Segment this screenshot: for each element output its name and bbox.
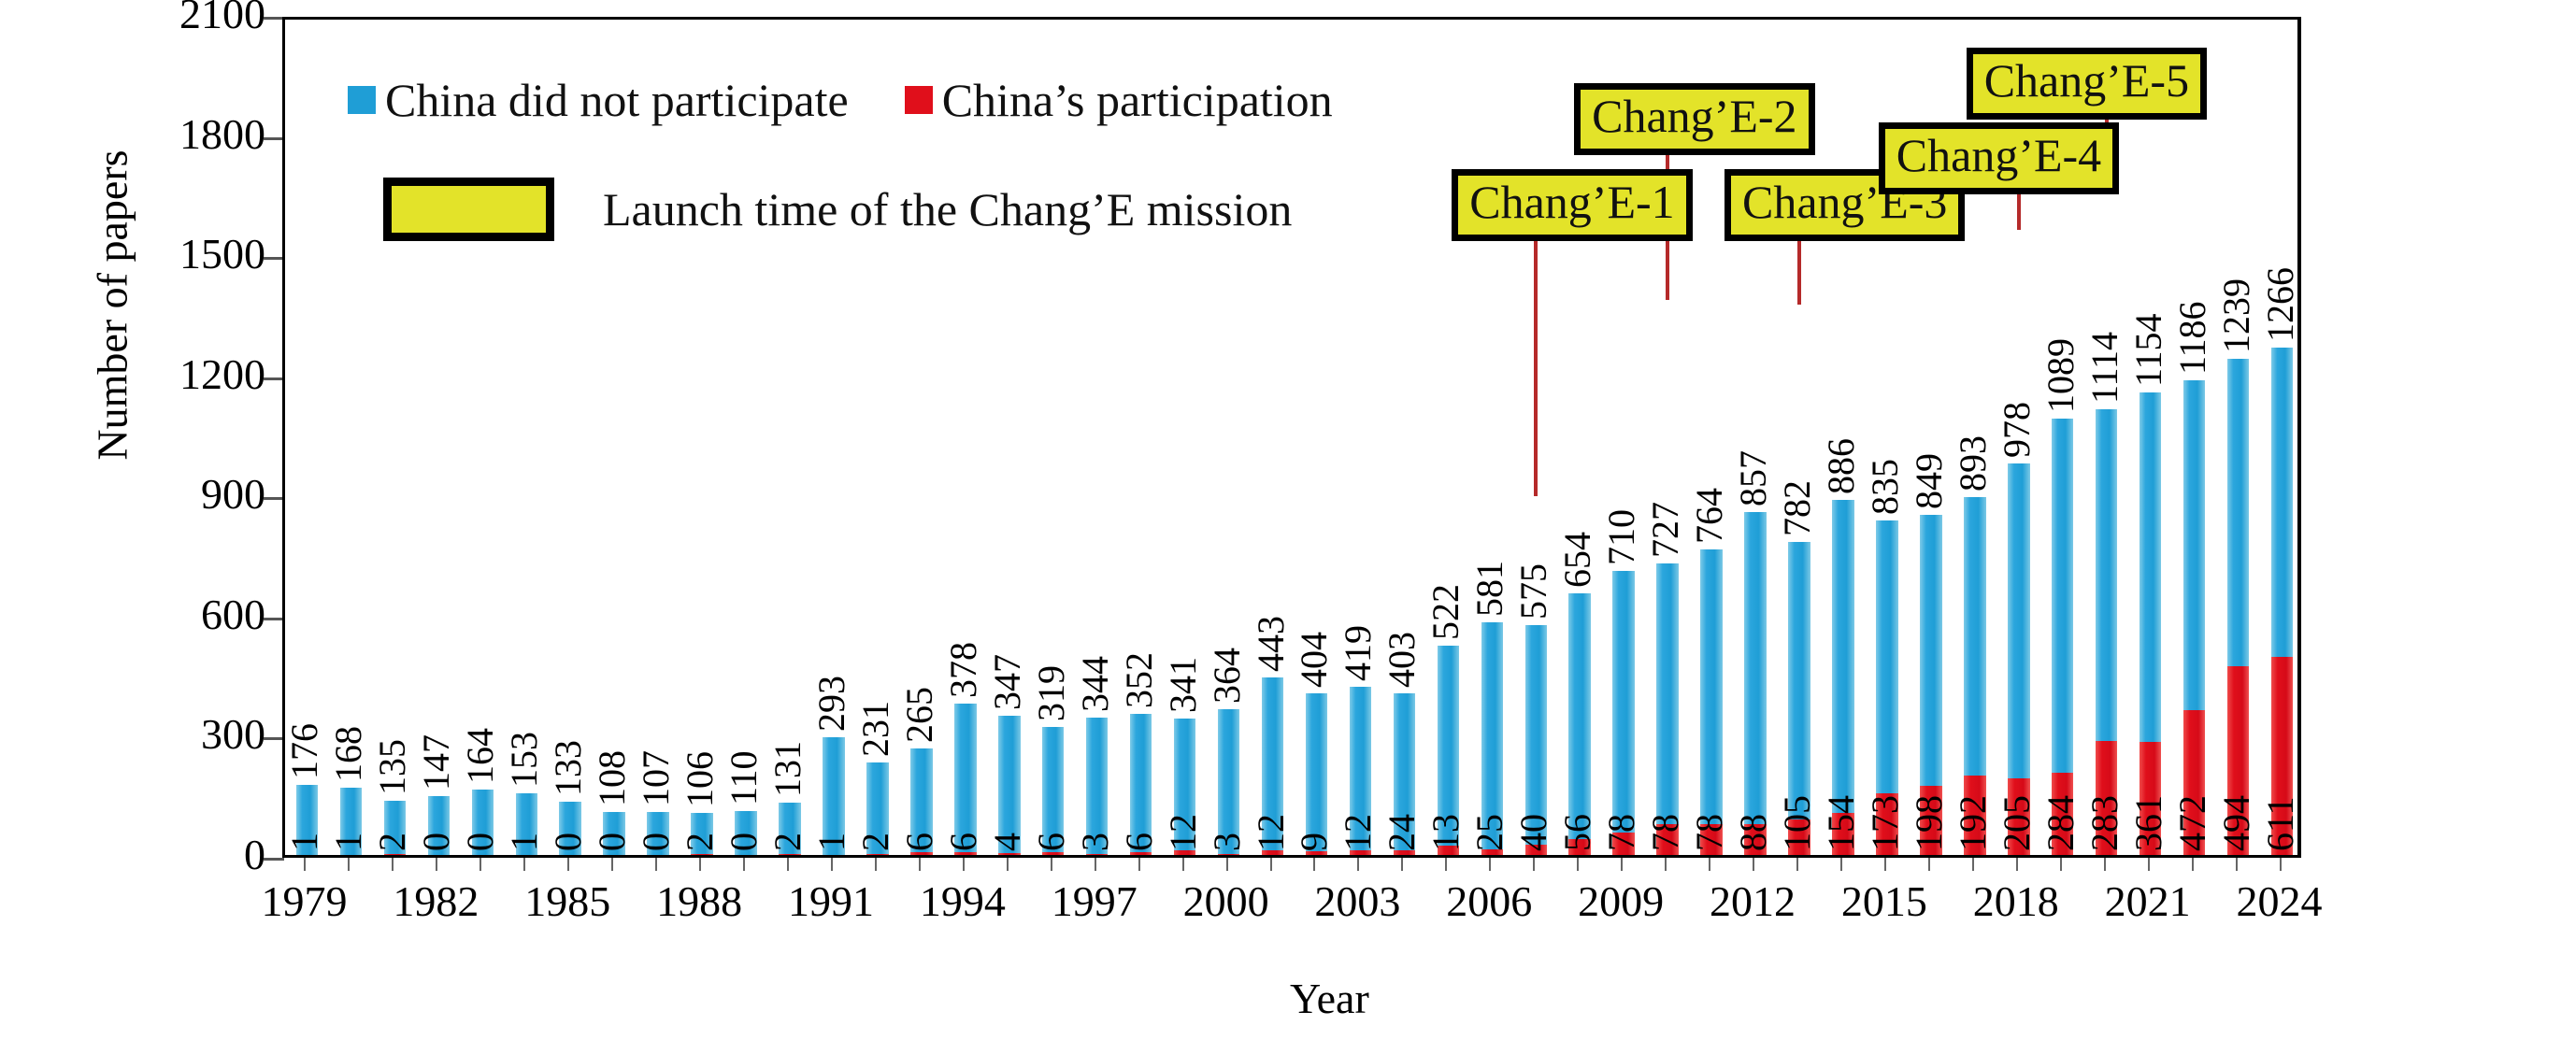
legend-mission: Launch time of the Chang’E mission bbox=[383, 178, 1292, 241]
bar-total-label: 1239 bbox=[2218, 278, 2255, 353]
bar-segment-blue bbox=[1656, 563, 1678, 823]
bar-total-label: 231 bbox=[857, 701, 894, 757]
x-tick-mark bbox=[1665, 858, 1667, 871]
y-tick-mark bbox=[264, 17, 284, 20]
x-tick-mark bbox=[2192, 858, 2194, 871]
y-tick-label: 300 bbox=[50, 709, 265, 759]
bar-red-label: 12 bbox=[1165, 814, 1202, 851]
bar-2012[interactable] bbox=[1744, 512, 1766, 855]
bar-segment-blue bbox=[2271, 348, 2293, 657]
annotation-box-2007[interactable]: Chang’E-1 bbox=[1452, 169, 1692, 241]
bar-red-label: 284 bbox=[2042, 795, 2080, 851]
bar-segment-blue bbox=[1876, 520, 1897, 793]
y-tick-label: 1200 bbox=[50, 349, 265, 399]
bar-red-label: 78 bbox=[1647, 814, 1684, 851]
annotation-box-2020[interactable]: Chang’E-5 bbox=[1967, 48, 2207, 120]
bar-segment-red bbox=[1218, 854, 1239, 855]
bar-red-label: 2 bbox=[374, 833, 411, 851]
bar-red-label: 1 bbox=[286, 833, 323, 851]
y-tick-label: 0 bbox=[50, 830, 265, 879]
bar-total-label: 575 bbox=[1515, 563, 1553, 620]
bar-total-label: 1089 bbox=[2042, 338, 2080, 413]
bar-segment-blue bbox=[1832, 500, 1853, 813]
bar-red-label: 0 bbox=[550, 833, 587, 851]
x-tick-label: 2003 bbox=[1314, 876, 1400, 926]
x-tick-mark bbox=[1489, 858, 1491, 871]
x-tick-mark bbox=[655, 858, 657, 871]
bar-red-label: 0 bbox=[725, 833, 763, 851]
bar-total-label: 404 bbox=[1295, 632, 1333, 688]
bar-total-label: 347 bbox=[989, 654, 1026, 710]
y-tick-label: 1800 bbox=[50, 109, 265, 159]
y-tick-mark bbox=[264, 137, 284, 140]
x-tick-mark bbox=[1270, 858, 1272, 871]
bar-red-label: 9 bbox=[1295, 833, 1333, 851]
y-axis-title: Number of papers bbox=[88, 109, 137, 502]
bar-total-label: 265 bbox=[901, 687, 938, 743]
x-tick-mark bbox=[1313, 858, 1315, 871]
bar-total-label: 654 bbox=[1559, 532, 1596, 588]
bar-red-label: 2 bbox=[769, 833, 807, 851]
bar-red-label: 205 bbox=[1998, 795, 2036, 851]
bar-red-label: 3 bbox=[1209, 833, 1246, 851]
bar-segment-red bbox=[954, 852, 976, 855]
bar-total-label: 782 bbox=[1779, 480, 1816, 536]
bar-red-label: 78 bbox=[1691, 814, 1728, 851]
bar-red-label: 611 bbox=[2262, 796, 2299, 851]
bar-total-label: 135 bbox=[374, 739, 411, 795]
bar-red-label: 6 bbox=[901, 833, 938, 851]
bar-red-label: 283 bbox=[2086, 795, 2124, 851]
x-tick-mark bbox=[1445, 858, 1447, 871]
bar-red-label: 4 bbox=[989, 833, 1026, 851]
x-tick-label: 2009 bbox=[1578, 876, 1664, 926]
bar-red-label: 78 bbox=[1603, 814, 1640, 851]
x-tick-label: 2000 bbox=[1183, 876, 1269, 926]
bar-total-label: 131 bbox=[769, 741, 807, 797]
legend-blue-swatch bbox=[348, 86, 376, 114]
x-tick-mark bbox=[1182, 858, 1184, 871]
y-tick-mark bbox=[264, 858, 284, 861]
bar-total-label: 352 bbox=[1121, 652, 1158, 708]
bar-red-label: 1 bbox=[330, 833, 367, 851]
bar-segment-red bbox=[1130, 852, 1152, 855]
x-tick-mark bbox=[479, 858, 481, 871]
bar-red-label: 198 bbox=[1911, 795, 1948, 851]
bar-segment-blue bbox=[2227, 359, 2249, 666]
bar-2019[interactable] bbox=[2052, 419, 2073, 855]
x-tick-mark bbox=[875, 858, 877, 871]
x-tick-label: 1985 bbox=[524, 876, 610, 926]
bar-2021[interactable] bbox=[2140, 392, 2161, 855]
chart-figure: Number of papers 03006009001200150018002… bbox=[0, 0, 2576, 1054]
annotation-line-2007 bbox=[1534, 238, 1538, 496]
bar-total-label: 106 bbox=[681, 751, 719, 807]
bar-total-label: 108 bbox=[594, 750, 631, 806]
bar-segment-red bbox=[910, 852, 932, 855]
bar-total-label: 344 bbox=[1077, 656, 1114, 712]
x-tick-mark bbox=[2104, 858, 2106, 871]
y-tick-label: 900 bbox=[50, 469, 265, 519]
bar-total-label: 403 bbox=[1383, 632, 1421, 688]
legend-red-swatch bbox=[905, 86, 933, 114]
bar-segment-blue bbox=[1700, 549, 1722, 824]
bar-total-label: 164 bbox=[462, 728, 499, 784]
x-tick-mark bbox=[831, 858, 833, 871]
y-tick-mark bbox=[264, 497, 284, 500]
bar-segment-blue bbox=[2140, 392, 2161, 741]
bar-total-label: 364 bbox=[1209, 648, 1246, 704]
bar-segment-blue bbox=[1568, 593, 1590, 839]
bar-red-label: 2 bbox=[681, 833, 719, 851]
x-tick-label: 2018 bbox=[1973, 876, 2059, 926]
x-tick-label: 1991 bbox=[788, 876, 874, 926]
y-tick-mark bbox=[264, 737, 284, 740]
y-tick-label: 2100 bbox=[50, 0, 265, 38]
bar-total-label: 893 bbox=[1954, 435, 1992, 491]
bar-red-label: 1 bbox=[813, 833, 851, 851]
x-tick-mark bbox=[304, 858, 306, 871]
x-tick-label: 1997 bbox=[1052, 876, 1138, 926]
bar-segment-blue bbox=[2183, 380, 2205, 711]
legend-mission-label: Launch time of the Chang’E mission bbox=[603, 182, 1292, 236]
bar-total-label: 443 bbox=[1252, 616, 1290, 672]
bar-red-label: 0 bbox=[637, 833, 675, 851]
x-tick-mark bbox=[1577, 858, 1579, 871]
bar-segment-red bbox=[866, 854, 888, 855]
bar-red-label: 361 bbox=[2130, 795, 2168, 851]
y-tick-mark bbox=[264, 257, 284, 260]
bar-red-label: 173 bbox=[1867, 795, 1904, 851]
x-tick-mark bbox=[1840, 858, 1842, 871]
x-tick-mark bbox=[348, 858, 350, 871]
legend-red-label: China’s participation bbox=[942, 73, 1333, 127]
bar-total-label: 419 bbox=[1339, 625, 1377, 681]
x-tick-label: 1979 bbox=[261, 876, 347, 926]
bar-total-label: 581 bbox=[1471, 561, 1509, 617]
x-tick-mark bbox=[787, 858, 789, 871]
bar-total-label: 886 bbox=[1823, 438, 1860, 494]
x-tick-mark bbox=[567, 858, 569, 871]
annotation-box-2018[interactable]: Chang’E-4 bbox=[1879, 122, 2119, 194]
bar-segment-blue bbox=[1744, 512, 1766, 824]
bar-red-label: 192 bbox=[1954, 795, 1992, 851]
x-tick-label: 2024 bbox=[2237, 876, 2323, 926]
bar-segment-red bbox=[998, 853, 1020, 855]
bar-red-label: 154 bbox=[1823, 795, 1860, 851]
bar-segment-red bbox=[779, 854, 800, 855]
bar-2010[interactable] bbox=[1656, 563, 1678, 855]
bar-segment-blue bbox=[1920, 515, 1941, 786]
bar-red-label: 56 bbox=[1559, 814, 1596, 851]
bar-red-label: 12 bbox=[1252, 814, 1290, 851]
bar-total-label: 176 bbox=[286, 723, 323, 779]
x-tick-mark bbox=[1533, 858, 1535, 871]
x-tick-mark bbox=[1709, 858, 1710, 871]
x-tick-label: 1982 bbox=[393, 876, 479, 926]
bar-2009[interactable] bbox=[1612, 571, 1634, 855]
bar-total-label: 133 bbox=[550, 740, 587, 796]
bar-total-label: 522 bbox=[1427, 584, 1465, 640]
bar-red-label: 1 bbox=[506, 833, 543, 851]
legend-blue-label: China did not participate bbox=[385, 73, 849, 127]
x-tick-mark bbox=[2148, 858, 2150, 871]
bar-segment-blue bbox=[2008, 463, 2029, 778]
bar-2020[interactable] bbox=[2096, 409, 2117, 855]
plot-area: 1761168113521470164015311330108010701062… bbox=[282, 17, 2301, 858]
bar-total-label: 107 bbox=[637, 750, 675, 806]
x-tick-mark bbox=[2060, 858, 2062, 871]
x-tick-mark bbox=[1972, 858, 1974, 871]
bar-segment-red bbox=[1306, 851, 1327, 855]
bar-total-label: 378 bbox=[945, 642, 982, 698]
x-tick-label: 2021 bbox=[2105, 876, 2191, 926]
bar-red-label: 3 bbox=[1077, 833, 1114, 851]
legend-yellow-swatch bbox=[383, 178, 554, 241]
x-tick-mark bbox=[699, 858, 701, 871]
bar-2011[interactable] bbox=[1700, 549, 1722, 855]
bar-2002[interactable] bbox=[1306, 693, 1327, 855]
bar-segment-red bbox=[1086, 854, 1108, 855]
bar-red-label: 24 bbox=[1383, 814, 1421, 851]
x-tick-mark bbox=[743, 858, 745, 871]
x-tick-mark bbox=[1928, 858, 1930, 871]
bar-segment-blue bbox=[2096, 409, 2117, 742]
bar-total-label: 319 bbox=[1033, 665, 1070, 721]
x-tick-mark bbox=[963, 858, 965, 871]
bar-total-label: 1114 bbox=[2086, 332, 2124, 404]
bar-segment-blue bbox=[1788, 542, 1810, 819]
x-tick-mark bbox=[611, 858, 613, 871]
bar-2022[interactable] bbox=[2183, 380, 2205, 855]
bar-red-label: 0 bbox=[462, 833, 499, 851]
bar-total-label: 849 bbox=[1911, 453, 1948, 509]
bar-2024[interactable] bbox=[2271, 348, 2293, 855]
bar-segment-blue bbox=[1306, 693, 1327, 851]
x-tick-mark bbox=[2280, 858, 2282, 871]
x-tick-mark bbox=[1007, 858, 1009, 871]
bar-red-label: 40 bbox=[1515, 814, 1553, 851]
bar-total-label: 168 bbox=[330, 726, 367, 782]
bar-red-label: 6 bbox=[1121, 833, 1158, 851]
y-tick-label: 600 bbox=[50, 590, 265, 639]
x-tick-mark bbox=[1753, 858, 1754, 871]
bar-segment-blue bbox=[1964, 497, 1985, 776]
bar-total-label: 764 bbox=[1691, 488, 1728, 544]
bar-red-label: 12 bbox=[1339, 814, 1377, 851]
x-tick-mark bbox=[1095, 858, 1096, 871]
y-tick-mark bbox=[264, 618, 284, 620]
bar-red-label: 13 bbox=[1427, 814, 1465, 851]
bar-2023[interactable] bbox=[2227, 359, 2249, 855]
bar-segment-blue bbox=[2052, 419, 2073, 773]
bar-total-label: 147 bbox=[418, 734, 455, 790]
x-tick-mark bbox=[1226, 858, 1228, 871]
bar-total-label: 978 bbox=[1998, 402, 2036, 458]
bar-total-label: 110 bbox=[725, 750, 763, 805]
x-tick-mark bbox=[523, 858, 525, 871]
bar-total-label: 710 bbox=[1603, 509, 1640, 565]
x-tick-mark bbox=[436, 858, 437, 871]
x-tick-mark bbox=[1357, 858, 1359, 871]
x-tick-label: 1988 bbox=[656, 876, 742, 926]
bar-red-label: 494 bbox=[2218, 795, 2255, 851]
bar-segment-blue bbox=[1612, 571, 1634, 833]
x-tick-mark bbox=[1401, 858, 1403, 871]
annotation-line-2018 bbox=[2017, 192, 2021, 230]
x-axis-title: Year bbox=[1290, 974, 1369, 1023]
y-tick-mark bbox=[264, 377, 284, 380]
bar-total-label: 727 bbox=[1647, 502, 1684, 558]
annotation-box-2010[interactable]: Chang’E-2 bbox=[1574, 83, 1814, 155]
bar-total-label: 1154 bbox=[2130, 314, 2168, 388]
bar-segment-blue bbox=[1525, 625, 1547, 846]
bar-red-label: 2 bbox=[857, 833, 894, 851]
x-tick-mark bbox=[2236, 858, 2238, 871]
x-tick-mark bbox=[392, 858, 394, 871]
bar-total-label: 857 bbox=[1735, 450, 1772, 506]
x-tick-mark bbox=[1884, 858, 1886, 871]
bar-segment-blue bbox=[954, 704, 976, 852]
bar-segment-red bbox=[691, 854, 712, 855]
bar-red-label: 0 bbox=[594, 833, 631, 851]
x-tick-mark bbox=[1621, 858, 1623, 871]
bar-red-label: 25 bbox=[1471, 814, 1509, 851]
annotation-line-2013 bbox=[1797, 238, 1801, 305]
x-tick-mark bbox=[1796, 858, 1798, 871]
bar-red-label: 105 bbox=[1779, 795, 1816, 851]
bar-red-label: 6 bbox=[1033, 833, 1070, 851]
x-tick-label: 1994 bbox=[920, 876, 1006, 926]
bar-red-label: 88 bbox=[1735, 814, 1772, 851]
bar-red-label: 6 bbox=[945, 833, 982, 851]
x-tick-mark bbox=[1138, 858, 1140, 871]
bar-total-label: 1266 bbox=[2262, 267, 2299, 342]
bar-red-label: 472 bbox=[2174, 795, 2211, 851]
bar-total-label: 341 bbox=[1165, 657, 1202, 713]
x-tick-label: 2015 bbox=[1841, 876, 1927, 926]
x-tick-mark bbox=[2016, 858, 2018, 871]
bar-total-label: 293 bbox=[813, 676, 851, 732]
x-tick-label: 2012 bbox=[1710, 876, 1796, 926]
legend-series: China did not participate China’s partic… bbox=[348, 73, 1389, 127]
x-tick-label: 2006 bbox=[1446, 876, 1532, 926]
bar-total-label: 1186 bbox=[2174, 301, 2211, 375]
bar-total-label: 153 bbox=[506, 732, 543, 788]
y-tick-label: 1500 bbox=[50, 229, 265, 278]
bar-segment-red bbox=[384, 854, 406, 855]
bar-red-label: 0 bbox=[418, 833, 455, 851]
x-tick-mark bbox=[1051, 858, 1052, 871]
bar-total-label: 835 bbox=[1867, 459, 1904, 515]
bar-segment-red bbox=[1042, 852, 1064, 855]
x-tick-mark bbox=[919, 858, 921, 871]
